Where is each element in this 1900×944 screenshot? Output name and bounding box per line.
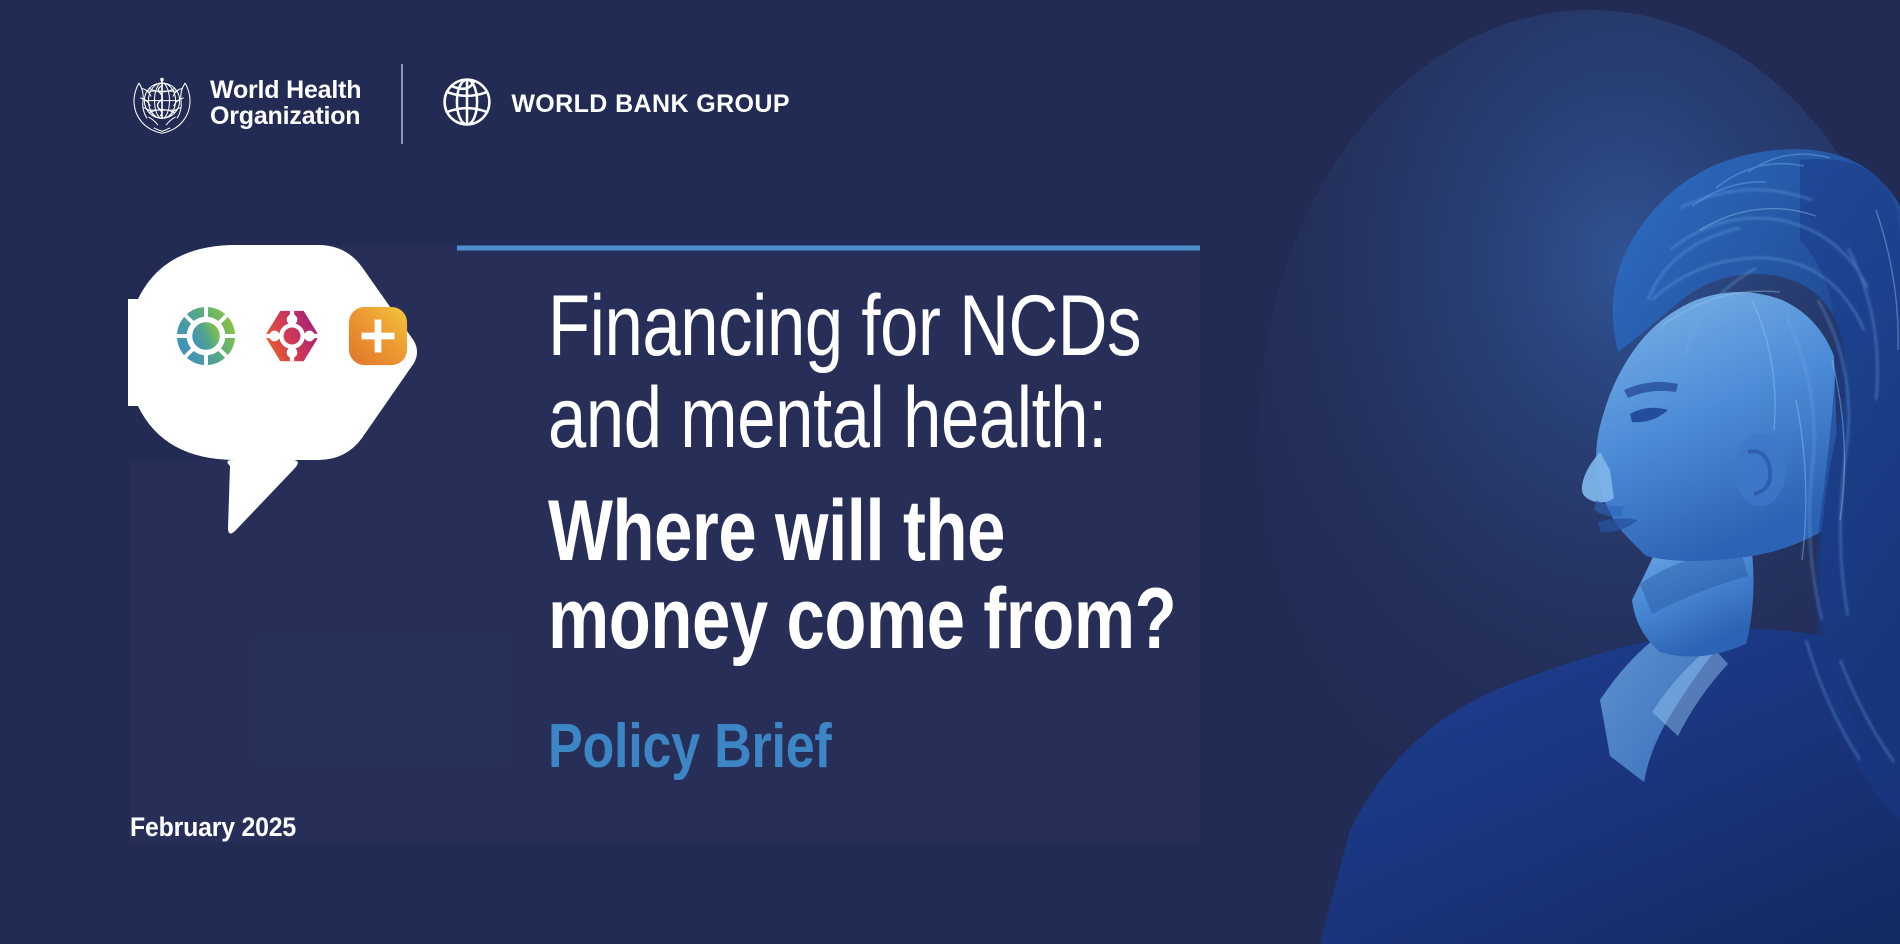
document-type-subtitle: Policy Brief [548, 711, 1254, 782]
who-wordmark: World HealthOrganization [210, 78, 361, 130]
who-emblem-icon [128, 68, 196, 141]
header-logos: World HealthOrganization WORLD BANK GROU… [128, 68, 790, 140]
who-logo: World HealthOrganization [128, 68, 361, 141]
title-bold-line1: Where will the [548, 488, 1220, 576]
health-plus-icon [347, 305, 409, 367]
title-light-line1: Financing for NCDs [548, 280, 1220, 372]
world-bank-globe-icon [439, 74, 495, 135]
logo-divider [401, 64, 403, 144]
world-bank-logo: WORLD BANK GROUP [439, 74, 790, 135]
title-block: Financing for NCDs and mental health: Wh… [548, 280, 1388, 782]
publication-date: February 2025 [130, 812, 296, 843]
who-wordmark-line1: World Health [210, 76, 361, 104]
mental-health-hexagon-icon [261, 305, 323, 367]
title-light-line2: and mental health: [548, 372, 1220, 464]
ncd-circle-icon [175, 305, 237, 367]
badge-tail-pointer [222, 460, 302, 540]
who-wordmark-line2: Organization [210, 102, 360, 130]
world-bank-wordmark: WORLD BANK GROUP [511, 90, 790, 119]
title-bold-line2: money come from? [548, 576, 1220, 664]
badge-icon-row [175, 305, 409, 367]
